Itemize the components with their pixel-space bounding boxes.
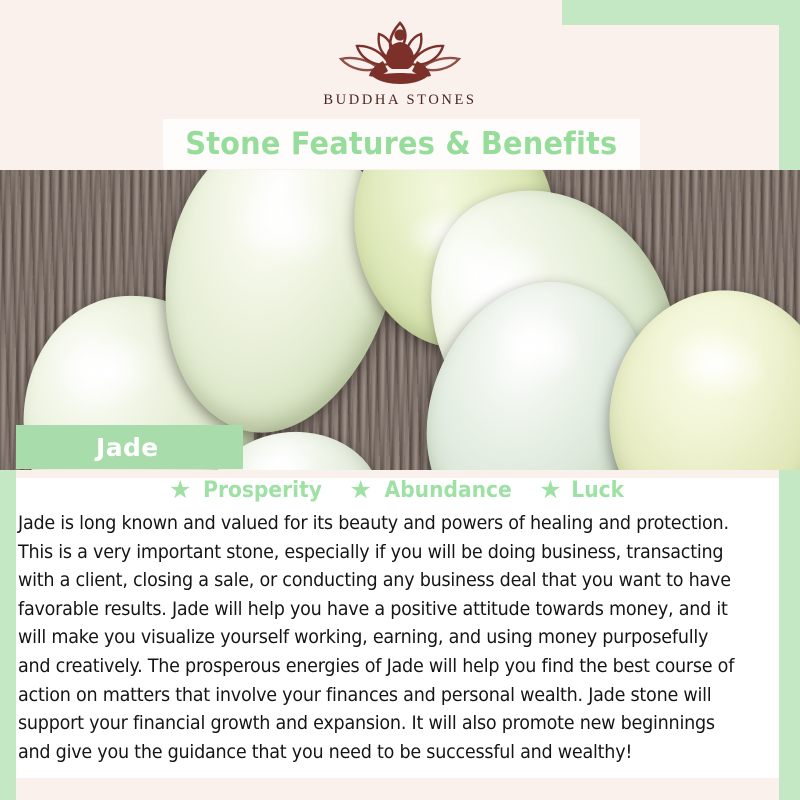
star-icon: ★: [169, 478, 191, 503]
benefit-label: Luck: [571, 478, 624, 503]
stone-info-card: BUDDHA STONES Stone Features & Benefits …: [0, 0, 800, 800]
decor-right-lower-band: [779, 455, 800, 800]
lotus-meditation-icon: [325, 16, 475, 88]
decor-left-lower-band: [0, 468, 16, 800]
page-title: Stone Features & Benefits: [185, 126, 617, 162]
benefit-item: ★ Abundance: [350, 478, 518, 503]
brand-wordmark: BUDDHA STONES: [323, 92, 476, 109]
page-title-band: Stone Features & Benefits: [163, 119, 640, 169]
stone-name-label: Jade: [96, 433, 159, 462]
benefit-item: ★ Luck: [539, 478, 626, 503]
star-icon: ★: [350, 478, 372, 503]
star-icon: ★: [539, 478, 561, 503]
stone-description: Jade is long known and valued for its be…: [18, 510, 746, 767]
brand-logo: BUDDHA STONES: [0, 16, 800, 109]
benefit-item: ★ Prosperity: [169, 478, 328, 503]
benefit-label: Abundance: [384, 478, 511, 503]
benefit-label: Prosperity: [204, 478, 323, 503]
stone-name-badge: Jade: [16, 425, 243, 469]
benefits-row: ★ Prosperity ★ Abundance ★ Luck: [16, 478, 779, 503]
